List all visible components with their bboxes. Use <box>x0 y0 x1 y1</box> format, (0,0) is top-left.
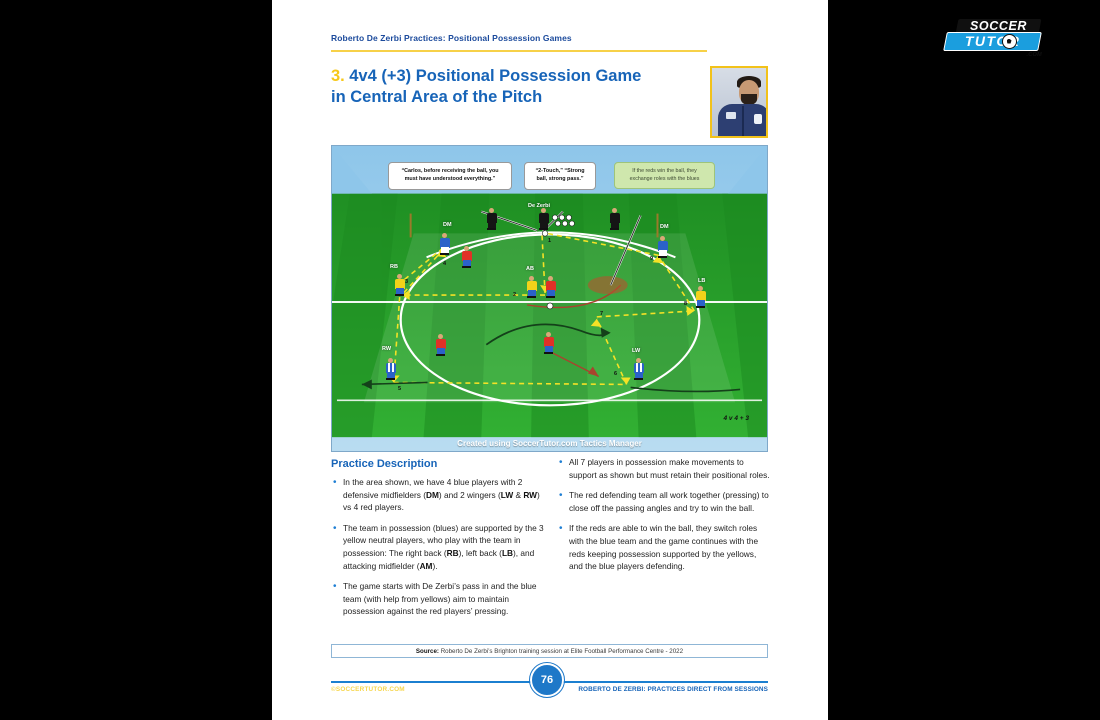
label-rb: RB <box>390 264 398 270</box>
practice-description-right-column: All 7 players in possession make movemen… <box>557 456 771 581</box>
list-item: The game starts with De Zerbi’s pass in … <box>331 580 546 618</box>
move-number-9: 9 <box>650 256 653 262</box>
logo-tutor-band: TUTOR <box>943 32 1042 51</box>
diagram-size-tag: 4 v 4 + 3 <box>724 415 749 422</box>
footer-book-title: ROBERTO DE ZERBI: PRACTICES DIRECT FROM … <box>578 686 768 693</box>
label-lb: LB <box>698 278 705 284</box>
logo-tld-text: .COM <box>1026 52 1042 58</box>
footer-copyright: ©SOCCERTUTOR.COM <box>331 686 405 693</box>
move-number-3: 3 <box>405 279 408 285</box>
move-number-5: 5 <box>398 386 401 392</box>
list-item: The team in possession (blues) are suppo… <box>331 522 546 572</box>
speech-bubble-3: If the reds win the ball, they exchange … <box>614 162 715 189</box>
source-text: Roberto De Zerbi’s Brighton training ses… <box>441 648 683 655</box>
source-label: Source: <box>416 648 439 655</box>
player-blue-dm-left <box>438 233 451 255</box>
page-number-badge: 76 <box>530 663 564 697</box>
player-yellow-lb <box>694 286 707 308</box>
player-red-2 <box>544 276 557 298</box>
label-dm-left: DM <box>443 222 452 228</box>
page-title: 3. 4v4 (+3) Positional Possession Game i… <box>331 66 701 108</box>
player-blue-rw <box>384 358 397 380</box>
list-item: All 7 players in possession make movemen… <box>557 456 771 481</box>
tactics-diagram: De Zerbi DM DM RB AB LB RW LW 1 2 3 4 5 … <box>331 145 768 452</box>
player-yellow-am <box>525 276 538 298</box>
page-title-line2: in Central Area of the Pitch <box>331 87 701 108</box>
practice-description-left-column: In the area shown, we have 4 blue player… <box>331 476 546 626</box>
player-blue-lw <box>632 358 645 380</box>
soccertutor-logo: SOCCER TUTOR .COM <box>945 19 1040 55</box>
speech-bubble-1: “Carlos, before receiving the ball, you … <box>388 162 512 190</box>
document-page: Roberto De Zerbi Practices: Positional P… <box>272 0 828 720</box>
move-number-6: 6 <box>614 371 617 377</box>
move-number-4: 4 <box>443 261 446 267</box>
player-coach-assistant <box>485 208 498 230</box>
player-blue-dm-right <box>656 236 669 258</box>
diagram-caption: Created using SoccerTutor.com Tactics Ma… <box>332 439 767 448</box>
source-bar: Source: Roberto De Zerbi’s Brighton trai… <box>331 644 768 658</box>
label-lw: LW <box>632 348 640 354</box>
practice-description-heading: Practice Description <box>331 458 437 470</box>
player-assistant-2 <box>608 208 621 230</box>
running-header: Roberto De Zerbi Practices: Positional P… <box>331 33 771 43</box>
page-title-number: 3. <box>331 67 345 85</box>
player-red-1 <box>460 246 473 268</box>
screenshot-viewport: Roberto De Zerbi Practices: Positional P… <box>0 0 1100 720</box>
list-item: In the area shown, we have 4 blue player… <box>331 476 546 514</box>
header-divider <box>331 50 707 52</box>
running-title: Roberto De Zerbi Practices: Positional P… <box>331 33 771 43</box>
list-item: The red defending team all work together… <box>557 489 771 514</box>
player-de-zerbi <box>537 208 550 230</box>
player-red-4 <box>542 332 555 354</box>
move-number-7: 7 <box>600 311 603 317</box>
label-dm-right: DM <box>660 224 669 230</box>
coach-portrait <box>710 66 768 138</box>
move-number-2: 2 <box>513 292 516 298</box>
move-number-8: 8 <box>684 301 687 307</box>
page-title-line1: 4v4 (+3) Positional Possession Game <box>349 67 641 85</box>
logo-tutor-text: TUTOR <box>946 33 1039 49</box>
move-number-1: 1 <box>548 238 551 244</box>
list-item: If the reds are able to win the ball, th… <box>557 522 771 572</box>
label-rw: RW <box>382 346 391 352</box>
label-de-zerbi: De Zerbi <box>528 203 550 209</box>
football-icon <box>1002 34 1017 49</box>
label-am: AB <box>526 266 534 272</box>
speech-bubble-2: “2-Touch,” “Strong ball, strong pass.” <box>524 162 596 190</box>
player-yellow-rb <box>393 274 406 296</box>
player-red-3 <box>434 334 447 356</box>
